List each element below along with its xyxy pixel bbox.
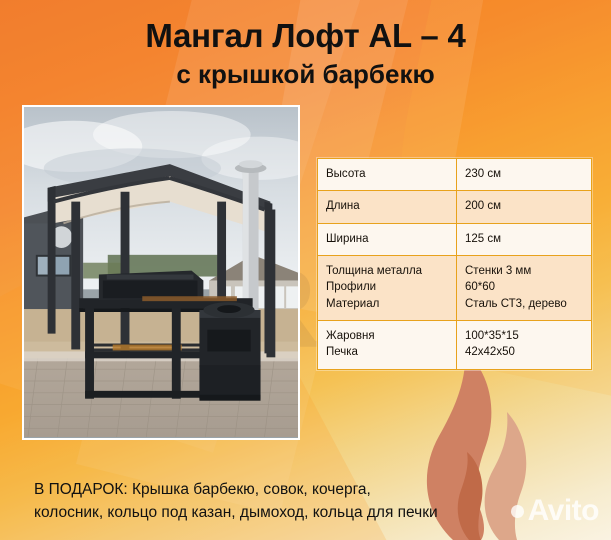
spec-value: 125 см bbox=[457, 223, 592, 255]
table-row: Длина 200 см bbox=[318, 191, 592, 223]
spec-value: 230 см bbox=[457, 159, 592, 191]
spec-table: Высота 230 см Длина 200 см Ширина 125 см… bbox=[317, 158, 592, 370]
spec-key: Толщина металла Профили Материал bbox=[318, 255, 457, 320]
table-row: Ширина 125 см bbox=[318, 223, 592, 255]
poster-canvas: Мангал Лофт AL – 4 с крышкой барбекю RI bbox=[0, 0, 611, 540]
title-line-1: Мангал Лофт AL – 4 bbox=[0, 18, 611, 54]
spec-key: Жаровня Печка bbox=[318, 320, 457, 369]
spec-value: 200 см bbox=[457, 191, 592, 223]
bonus-text: В ПОДАРОК: Крышка барбекю, совок, кочерг… bbox=[34, 478, 574, 525]
table-row: Высота 230 см bbox=[318, 159, 592, 191]
spec-key: Длина bbox=[318, 191, 457, 223]
product-photo bbox=[22, 105, 300, 440]
table-row: Толщина металла Профили Материал Стенки … bbox=[318, 255, 592, 320]
spec-value: Стенки 3 мм 60*60 Сталь СТ3, дерево bbox=[457, 255, 592, 320]
bonus-line-2: колосник, кольцо под казан, дымоход, кол… bbox=[34, 501, 574, 524]
spec-key: Высота bbox=[318, 159, 457, 191]
page-title: Мангал Лофт AL – 4 с крышкой барбекю bbox=[0, 18, 611, 90]
title-line-2: с крышкой барбекю bbox=[0, 58, 611, 91]
table-row: Жаровня Печка 100*35*15 42х42х50 bbox=[318, 320, 592, 369]
spec-key: Ширина bbox=[318, 223, 457, 255]
bonus-line-1: В ПОДАРОК: Крышка барбекю, совок, кочерг… bbox=[34, 478, 574, 501]
spec-value: 100*35*15 42х42х50 bbox=[457, 320, 592, 369]
